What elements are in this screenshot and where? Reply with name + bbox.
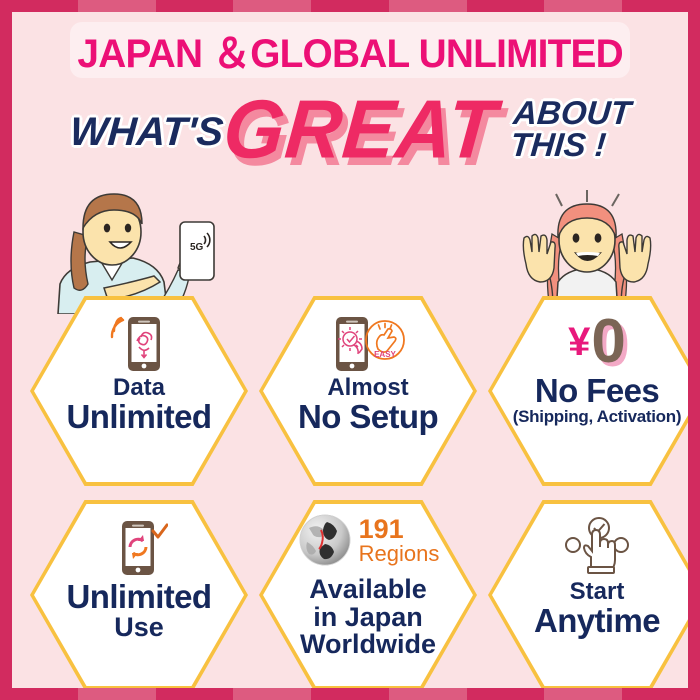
hex-text-lines: No Fees (Shipping, Activation) — [513, 374, 681, 425]
stripe-segment — [233, 0, 311, 12]
poster-title: JAPAN ＆GLOBAL UNLIMITED — [77, 21, 622, 79]
feature-hex-available-worldwide[interactable]: 191 Regions Available in Japan Worldwide — [259, 500, 477, 688]
feature-line: Worldwide — [300, 631, 436, 659]
feature-hex-data-unlimited[interactable]: Data Unlimited — [30, 296, 248, 486]
phone-refresh-check-icon — [110, 514, 168, 578]
stripe-segment — [0, 0, 78, 12]
feature-line: No Fees — [513, 374, 681, 408]
feature-line: Almost — [298, 376, 438, 400]
easy-badge-label: EASY — [374, 350, 396, 359]
feature-line: in Japan — [300, 604, 436, 632]
headline-about-line1: ABOUT — [512, 94, 633, 131]
headline-this: THIS — [509, 126, 587, 163]
hex-text-lines: Data Unlimited — [67, 376, 212, 434]
headline-about-this: ABOUT THIS ! — [509, 97, 632, 162]
feature-line: No Setup — [298, 400, 438, 434]
yen-symbol: ¥ — [568, 322, 590, 362]
headline-exclamation: ! — [593, 126, 607, 163]
stripe-segment — [622, 688, 700, 700]
globe-japan-icon — [297, 512, 353, 568]
feature-hex-start-anytime[interactable]: Start Anytime — [488, 500, 688, 688]
feature-line: Unlimited — [67, 400, 212, 434]
yen-amount: 0 — [591, 311, 625, 373]
stripe-segment — [467, 0, 545, 12]
bottom-stripe-band — [0, 688, 700, 700]
phone-easy-setup-icon: EASY — [330, 310, 406, 374]
stripe-segment — [389, 0, 467, 12]
title-banner: JAPAN ＆GLOBAL UNLIMITED — [70, 22, 630, 78]
hex-text-lines: Available in Japan Worldwide — [300, 576, 436, 659]
feature-hex-no-fees[interactable]: ¥ 0 No Fees (Shipping, Activation) — [488, 296, 688, 486]
feature-line: Use — [67, 614, 212, 642]
hex-text-lines: Unlimited Use — [67, 580, 212, 641]
hand-tap-check-icon — [561, 514, 633, 578]
feature-hexagon-grid: Data Unlimited — [24, 294, 688, 688]
feature-hex-unlimited-use[interactable]: Unlimited Use — [30, 500, 248, 688]
stripe-segment — [544, 688, 622, 700]
feature-line: Unlimited — [67, 580, 212, 614]
stripe-segment — [156, 688, 234, 700]
feature-hex-almost-no-setup[interactable]: EASY Almost No Setup — [259, 296, 477, 486]
stripe-segment — [156, 0, 234, 12]
headline-group: WHAT'S GREAT ABOUT THIS ! — [12, 88, 688, 188]
stripe-segment — [311, 688, 389, 700]
stripe-segment — [311, 0, 389, 12]
regions-count: 191 — [359, 516, 440, 543]
regions-text: 191 Regions — [359, 516, 440, 565]
stripe-segment — [233, 688, 311, 700]
stripe-segment — [544, 0, 622, 12]
globe-regions-group: 191 Regions — [297, 508, 440, 572]
promo-poster: JAPAN ＆GLOBAL UNLIMITED WHAT'S GREAT ABO… — [0, 0, 700, 700]
headline-whats: WHAT'S — [68, 110, 224, 155]
stripe-segment — [622, 0, 700, 12]
top-stripe-band — [0, 0, 700, 12]
headline-great: GREAT — [220, 81, 501, 177]
headline-about-line2: THIS ! — [509, 129, 629, 161]
stripe-segment — [389, 688, 467, 700]
stripe-segment — [467, 688, 545, 700]
feature-subline: (Shipping, Activation) — [513, 408, 681, 425]
phone-data-unlimited-icon — [110, 310, 168, 374]
feature-line: Data — [67, 376, 212, 400]
hex-text-lines: Almost No Setup — [298, 376, 438, 434]
hex-text-lines: Start Anytime — [534, 580, 660, 638]
feature-line: Start — [534, 580, 660, 604]
yen-zero-icon: ¥ 0 — [568, 310, 626, 374]
poster-panel: JAPAN ＆GLOBAL UNLIMITED WHAT'S GREAT ABO… — [12, 12, 688, 688]
svg-text:5G: 5G — [190, 242, 204, 253]
regions-label: Regions — [359, 543, 440, 565]
feature-line: Anytime — [534, 604, 660, 638]
stripe-segment — [78, 0, 156, 12]
feature-line: Available — [300, 576, 436, 604]
stripe-segment — [78, 688, 156, 700]
stripe-segment — [0, 688, 78, 700]
